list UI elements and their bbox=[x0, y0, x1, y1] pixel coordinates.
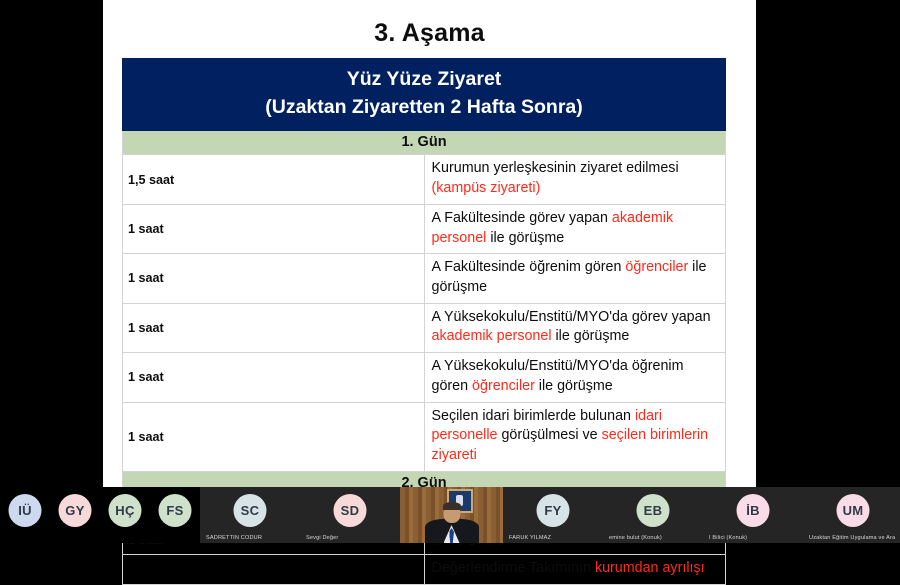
plain-text: A Yüksekokulu/Enstitü/MYO'da görev yapan bbox=[432, 309, 711, 325]
agenda-description-cell: Kurumun yerleşkesinin ziyaret edilmesi (… bbox=[424, 155, 726, 204]
participant-tile[interactable]: GY bbox=[50, 487, 100, 543]
avatar: FS bbox=[159, 494, 192, 527]
table-row: 1,5 saatKurumun yerleşkesinin ziyaret ed… bbox=[123, 155, 726, 204]
highlighted-text: (kampüs ziyareti) bbox=[432, 180, 541, 196]
avatar: HÇ bbox=[109, 494, 142, 527]
avatar: IÜ bbox=[9, 494, 42, 527]
avatar: SD bbox=[334, 494, 367, 527]
slide-title: 3. Aşama bbox=[103, 19, 756, 48]
agenda-duration-cell: 1 saat bbox=[123, 402, 425, 471]
agenda-description-cell: Değerlendirme Takımının kurumdan ayrılış… bbox=[424, 555, 726, 585]
avatar: GY bbox=[59, 494, 92, 527]
table-row: 1 saatA Yüksekokulu/Enstitü/MYO'da görev… bbox=[123, 303, 726, 352]
participant-video-tile[interactable] bbox=[400, 487, 503, 543]
participant-filmstrip[interactable]: IÜGYHÇFSSCSADRETTİN CODURSDSevgi DeğerFY… bbox=[0, 487, 900, 543]
shared-screen-area: 3. Aşama Yüz Yüze Ziyaret (Uzaktan Ziyar… bbox=[0, 0, 900, 487]
participant-name-label: FARUK YILMAZ bbox=[509, 535, 601, 541]
participant-tile[interactable]: IÜ bbox=[0, 487, 50, 543]
participant-tile[interactable]: HÇ bbox=[100, 487, 150, 543]
table-row: 1 saatSeçilen idari birimlerde bulunan i… bbox=[123, 402, 726, 471]
avatar: FY bbox=[537, 494, 570, 527]
header-line-2: (Uzaktan Ziyaretten 2 Hafta Sonra) bbox=[127, 94, 721, 122]
plain-text: ile görüşme bbox=[486, 230, 564, 246]
agenda-description-cell: A Yüksekokulu/Enstitü/MYO'da görev yapan… bbox=[424, 303, 726, 352]
avatar: EB bbox=[637, 494, 670, 527]
day1-section-row: 1. Gün bbox=[123, 131, 726, 155]
participant-name-label: emine bulut (Konuk) bbox=[609, 535, 701, 541]
plain-text: Değerlendirme Takımının bbox=[432, 560, 595, 576]
highlighted-text: akademik personel bbox=[432, 328, 552, 344]
agenda-duration-cell: 1 saat bbox=[123, 204, 425, 253]
participant-name-label: İ Bilici (Konuk) bbox=[709, 535, 801, 541]
table-row: Değerlendirme Takımının kurumdan ayrılış… bbox=[123, 555, 726, 585]
highlighted-text: öğrenciler bbox=[472, 378, 535, 394]
participant-tile[interactable]: UMUzaktan Eğitim Uygulama ve Ara bbox=[803, 487, 900, 543]
table-row: 1 saatA Fakültesinde görev yapan akademi… bbox=[123, 204, 726, 253]
table-header-row: Yüz Yüze Ziyaret (Uzaktan Ziyaretten 2 H… bbox=[123, 59, 726, 131]
agenda-description-cell: A Fakültesinde görev yapan akademik pers… bbox=[424, 204, 726, 253]
header-line-1: Yüz Yüze Ziyaret bbox=[127, 66, 721, 94]
highlighted-text: kurumdan ayrılışı bbox=[595, 560, 705, 576]
presentation-slide: 3. Aşama Yüz Yüze Ziyaret (Uzaktan Ziyar… bbox=[103, 0, 756, 487]
highlighted-text: öğrenciler bbox=[625, 259, 688, 275]
plain-text: Seçilen idari birimlerde bulunan bbox=[432, 408, 635, 424]
agenda-duration-cell: 1,5 saat bbox=[123, 155, 425, 204]
agenda-table-body: Yüz Yüze Ziyaret (Uzaktan Ziyaretten 2 H… bbox=[123, 59, 726, 155]
agenda-duration-cell: 1 saat bbox=[123, 303, 425, 352]
plain-text: ile görüşme bbox=[552, 328, 630, 344]
day1-label: 1. Gün bbox=[123, 131, 726, 155]
table-row: 1 saatA Fakültesinde öğrenim gören öğren… bbox=[123, 254, 726, 303]
agenda-description-cell: A Fakültesinde öğrenim gören öğrenciler … bbox=[424, 254, 726, 303]
participant-name-label: Sevgi Değer bbox=[306, 535, 398, 541]
agenda-duration-cell: 1 saat bbox=[123, 254, 425, 303]
agenda-description-cell: A Yüksekokulu/Enstitü/MYO'da öğrenim gör… bbox=[424, 353, 726, 402]
speaker-hair bbox=[443, 502, 461, 510]
participant-tile[interactable]: SCSADRETTİN CODUR bbox=[200, 487, 300, 543]
avatar: UM bbox=[837, 494, 870, 527]
participant-name-label: Uzaktan Eğitim Uygulama ve Ara bbox=[809, 535, 900, 541]
avatar: İB bbox=[737, 494, 770, 527]
participant-tile[interactable]: EBemine bulut (Konuk) bbox=[603, 487, 703, 543]
avatar: SC bbox=[234, 494, 267, 527]
agenda-duration-cell: 1 saat bbox=[123, 353, 425, 402]
plain-text: A Fakültesinde görev yapan bbox=[432, 210, 612, 226]
participant-tile[interactable]: SDSevgi Değer bbox=[300, 487, 400, 543]
table-header-cell: Yüz Yüze Ziyaret (Uzaktan Ziyaretten 2 H… bbox=[123, 59, 726, 131]
agenda-description-cell: Seçilen idari birimlerde bulunan idari p… bbox=[424, 402, 726, 471]
agenda-duration-cell bbox=[123, 555, 425, 585]
plain-text: Kurumun yerleşkesinin ziyaret edilmesi bbox=[432, 160, 679, 176]
participant-tile[interactable]: FYFARUK YILMAZ bbox=[503, 487, 603, 543]
plain-text: görüşülmesi ve bbox=[497, 427, 601, 443]
day1-rows: 1,5 saatKurumun yerleşkesinin ziyaret ed… bbox=[123, 155, 726, 471]
participant-tile[interactable]: FS bbox=[150, 487, 200, 543]
plain-text: A Fakültesinde öğrenim gören bbox=[432, 259, 626, 275]
participant-tile[interactable]: İBİ Bilici (Konuk) bbox=[703, 487, 803, 543]
table-row: 1 saatA Yüksekokulu/Enstitü/MYO'da öğren… bbox=[123, 353, 726, 402]
plain-text: ile görüşme bbox=[535, 378, 613, 394]
participant-name-label: SADRETTİN CODUR bbox=[206, 535, 298, 541]
